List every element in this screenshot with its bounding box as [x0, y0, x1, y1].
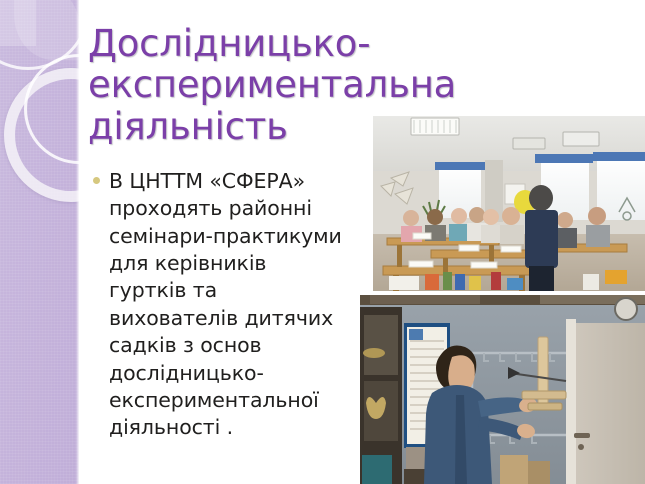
bullet-list-item: В ЦНТТМ «СФЕРА» проходять районні семіна… [93, 168, 358, 442]
classroom-seminar-image [373, 116, 645, 291]
workshop-demonstration-photo [360, 295, 645, 484]
presentation-slide: Дослідницько- експериментальна діяльніст… [0, 0, 645, 484]
classroom-seminar-photo [373, 116, 645, 291]
bullet-point-icon [93, 177, 100, 184]
bullet-item-text: В ЦНТТМ «СФЕРА» проходять районні семіна… [109, 168, 358, 442]
sidebar-edge [76, 0, 79, 484]
body-content: В ЦНТТМ «СФЕРА» проходять районні семіна… [93, 168, 358, 442]
workshop-demonstration-image [360, 295, 645, 484]
decorative-sidebar [0, 0, 79, 484]
